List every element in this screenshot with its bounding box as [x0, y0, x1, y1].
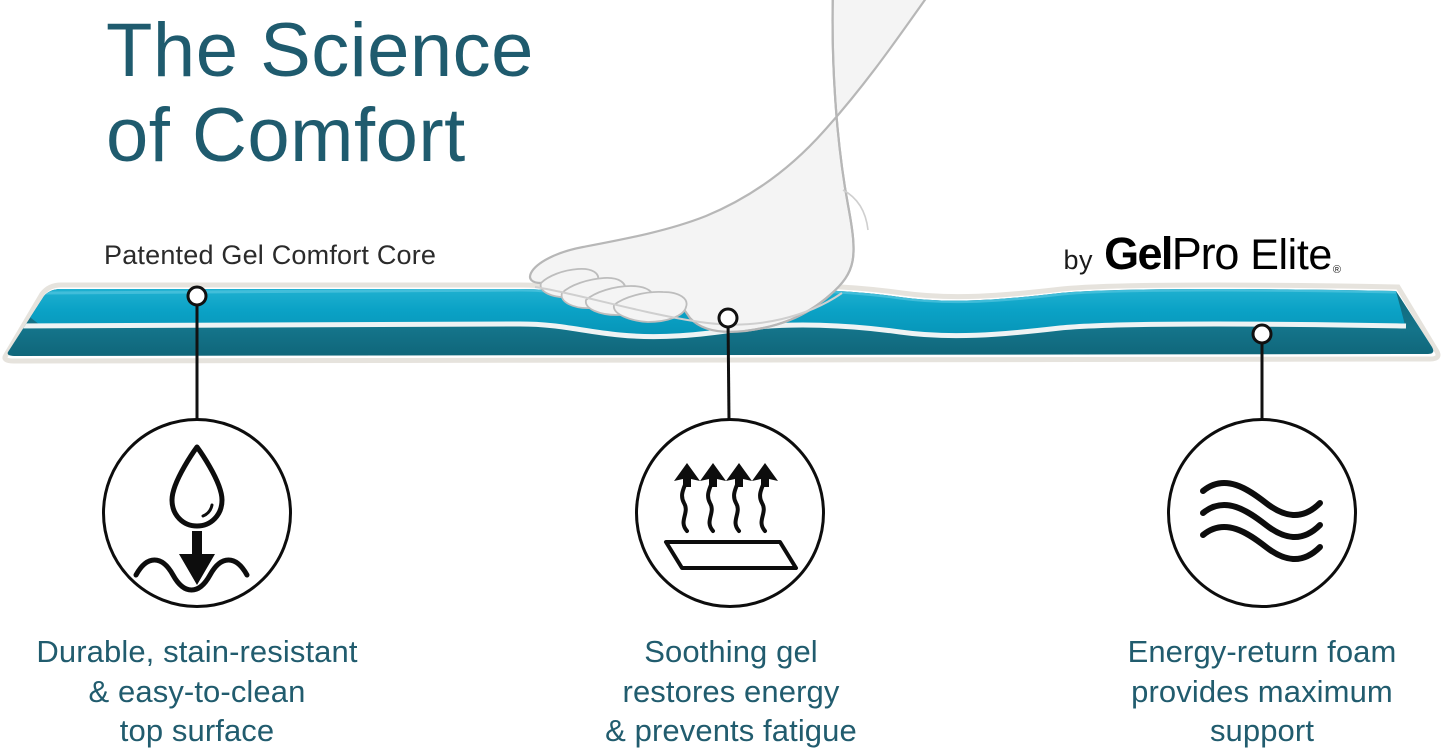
icon-circle-durable-surface [102, 418, 292, 608]
infographic-canvas: The Science of Comfort [0, 0, 1445, 749]
brand-pro-text: Pro [1172, 228, 1238, 280]
caption-soothing-gel: Soothing gel restores energy & prevents … [516, 632, 946, 749]
mat-outer-casing [5, 285, 1438, 361]
brand-by-text: by [1064, 245, 1094, 276]
page-title: The Science of Comfort [106, 8, 726, 178]
brand-gel-text: Gel [1104, 228, 1172, 280]
water-drop-into-waves-icon [105, 421, 289, 605]
callout-dot-soothing-gel [719, 309, 737, 327]
gel-comfort-core-label: Patented Gel Comfort Core [104, 240, 436, 271]
caption-durable-surface: Durable, stain-resistant & easy-to-clean… [0, 632, 412, 749]
caption-energy-return-foam: Energy-return foam provides maximum supp… [1047, 632, 1445, 749]
layer-seam [8, 324, 1406, 337]
mat-top-highlight [46, 290, 1396, 303]
rising-energy-arrows-icon [638, 421, 822, 605]
icon-circle-soothing-gel [635, 418, 825, 608]
gel-top-layer [8, 289, 1405, 336]
brand-lockup: by Gel Pro Elite ® [1064, 228, 1341, 280]
foam-layer [0, 280, 1445, 370]
callout-leaders [188, 287, 1271, 420]
icon-circle-energy-return-foam [1167, 418, 1357, 608]
callout-dot-energy-return-foam [1253, 325, 1271, 343]
brand-trademark-mark: ® [1333, 264, 1341, 280]
foam-waves-icon [1170, 421, 1354, 605]
callout-dot-gel-comfort-core [188, 287, 206, 305]
brand-elite-text: Elite [1250, 231, 1332, 280]
